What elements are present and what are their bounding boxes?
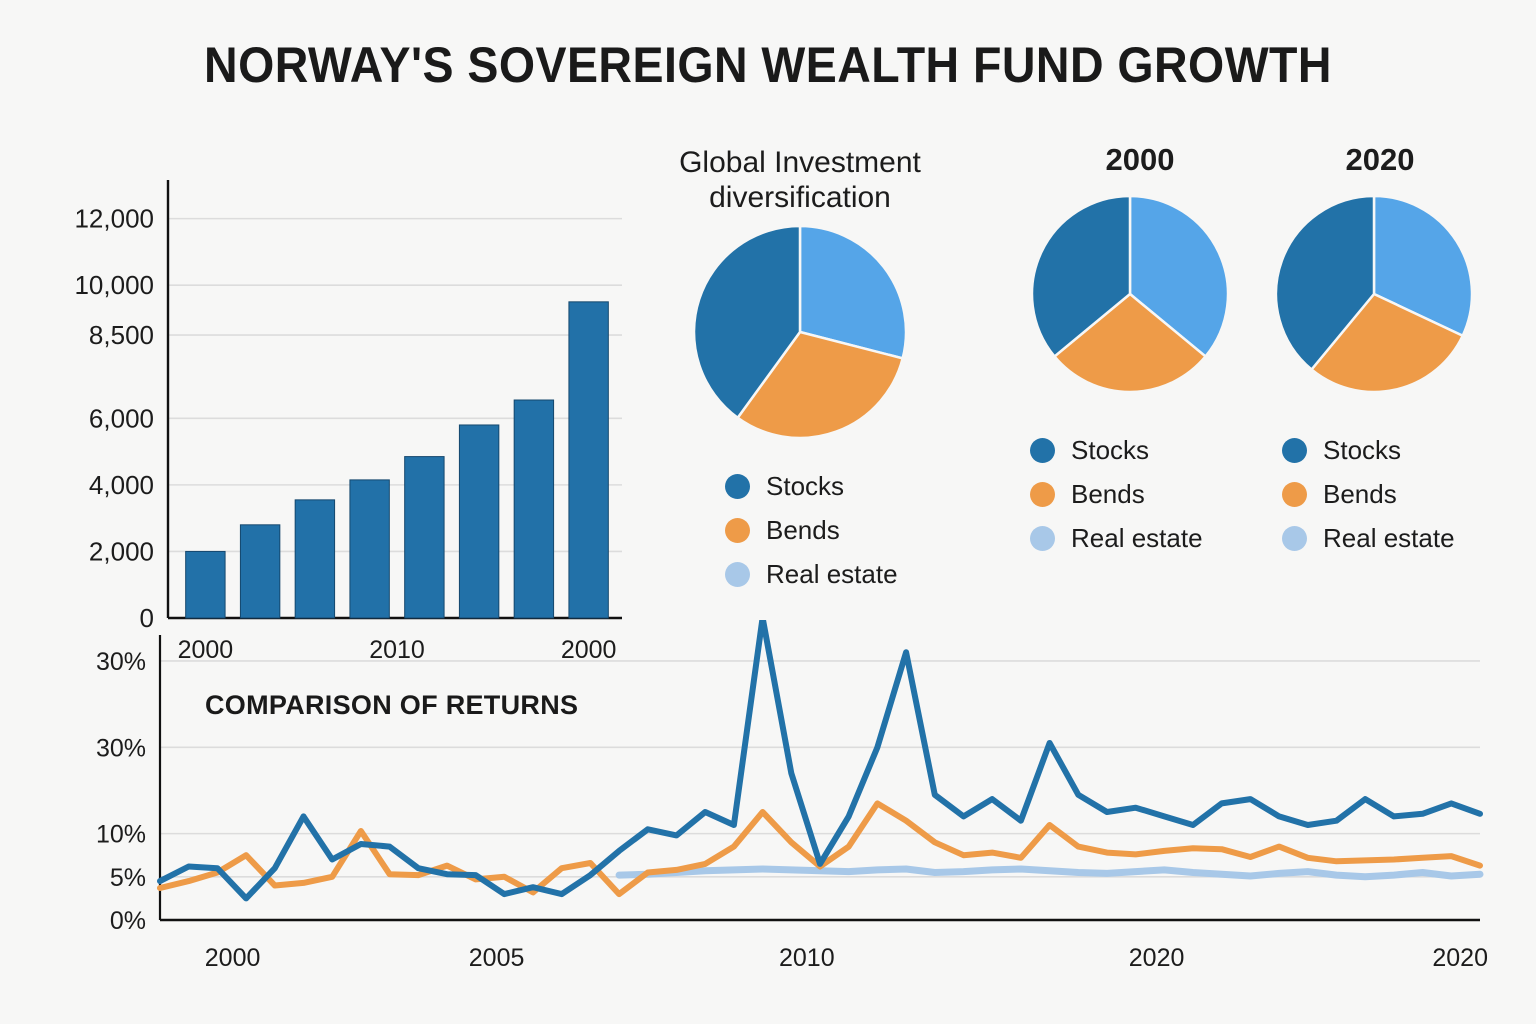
legend-item-real-estate[interactable]: Real estate — [725, 560, 898, 588]
bar[interactable] — [514, 400, 553, 618]
legend-dot-real-estate-icon — [1282, 526, 1307, 551]
pie-2020-panel — [1272, 192, 1476, 396]
legend-label-bends: Bends — [1323, 479, 1397, 510]
pie-title-2020: 2020 — [1255, 142, 1505, 178]
legend-dot-real-estate-icon — [725, 562, 750, 587]
legend-item-real-estate[interactable]: Real estate — [1282, 524, 1455, 552]
bar-chart: 02,0004,0006,0008,50010,00012,0002000201… — [40, 170, 640, 670]
line-series-stocks — [160, 620, 1480, 898]
legend-item-stocks[interactable]: Stocks — [1030, 436, 1203, 464]
line-y-tick-label: 0% — [110, 907, 146, 935]
line-chart-panel: 0%5%10%30%30%20002005201020202020 — [60, 620, 1500, 1000]
line-x-tick-label: 2020 — [1129, 944, 1185, 972]
legend-label-stocks: Stocks — [766, 471, 844, 502]
page-title: NORWAY'S SOVEREIGN WEALTH FUND GROWTH — [54, 36, 1482, 94]
line-y-tick-label: 5% — [110, 864, 146, 892]
bar[interactable] — [186, 551, 225, 618]
line-x-tick-label: 2010 — [779, 944, 835, 972]
legend-label-bends: Bends — [1071, 479, 1145, 510]
infographic-root: NORWAY'S SOVEREIGN WEALTH FUND GROWTH 02… — [0, 0, 1536, 1024]
legend-label-real-estate: Real estate — [1323, 523, 1455, 554]
legend-item-real-estate[interactable]: Real estate — [1030, 524, 1203, 552]
bar[interactable] — [240, 525, 279, 618]
bar[interactable] — [350, 480, 389, 618]
bar[interactable] — [569, 302, 608, 618]
legend-item-bends[interactable]: Bends — [1030, 480, 1203, 508]
legend-global: Stocks Bends Real estate — [725, 472, 898, 604]
line-x-tick-label: 2020 — [1432, 944, 1488, 972]
bar[interactable] — [405, 457, 444, 618]
legend-label-stocks: Stocks — [1071, 435, 1149, 466]
line-chart: 0%5%10%30%30%20002005201020202020 — [60, 620, 1500, 1000]
bar-y-tick-label: 6,000 — [89, 403, 154, 433]
legend-label-bends: Bends — [766, 515, 840, 546]
pie-title-global-line1: Global Investment — [650, 146, 950, 181]
legend-label-real-estate: Real estate — [766, 559, 898, 590]
legend-item-bends[interactable]: Bends — [725, 516, 898, 544]
pie-title-global: Global Investment diversification — [650, 146, 950, 216]
bar-y-tick-label: 2,000 — [89, 536, 154, 566]
legend-dot-stocks-icon — [1030, 438, 1055, 463]
legend-dot-stocks-icon — [1282, 438, 1307, 463]
legend-item-bends[interactable]: Bends — [1282, 480, 1455, 508]
legend-label-real-estate: Real estate — [1071, 523, 1203, 554]
legend-item-stocks[interactable]: Stocks — [725, 472, 898, 500]
bar-y-tick-label: 8,500 — [89, 320, 154, 350]
pie-title-2020-line1: 2020 — [1255, 142, 1505, 178]
line-series-real-estate — [619, 869, 1480, 877]
bar-chart-panel: 02,0004,0006,0008,50010,00012,0002000201… — [40, 170, 640, 670]
pie-chart-global[interactable] — [690, 222, 910, 442]
legend-2000: Stocks Bends Real estate — [1030, 436, 1203, 568]
line-y-tick-label: 30% — [96, 648, 146, 676]
legend-dot-bends-icon — [1282, 482, 1307, 507]
legend-dot-bends-icon — [1030, 482, 1055, 507]
bar-y-tick-label: 4,000 — [89, 470, 154, 500]
legend-label-stocks: Stocks — [1323, 435, 1401, 466]
legend-2020: Stocks Bends Real estate — [1282, 436, 1455, 568]
legend-dot-bends-icon — [725, 518, 750, 543]
bar-y-tick-label: 10,000 — [74, 270, 154, 300]
bar[interactable] — [295, 500, 334, 618]
line-x-tick-label: 2000 — [205, 944, 261, 972]
pie-title-2000: 2000 — [1015, 142, 1265, 178]
line-y-tick-label: 10% — [96, 821, 146, 849]
legend-item-stocks[interactable]: Stocks — [1282, 436, 1455, 464]
bar[interactable] — [459, 425, 498, 618]
line-x-tick-label: 2005 — [469, 944, 525, 972]
pie-title-2000-line1: 2000 — [1015, 142, 1265, 178]
bar-y-tick-label: 12,000 — [74, 204, 154, 234]
pie-title-global-line2: diversification — [650, 181, 950, 216]
line-y-tick-label: 30% — [96, 734, 146, 762]
pie-2000-panel — [1028, 192, 1232, 396]
pie-global-panel — [690, 222, 910, 442]
pie-chart-2000[interactable] — [1028, 192, 1232, 396]
pie-chart-2020[interactable] — [1272, 192, 1476, 396]
legend-dot-real-estate-icon — [1030, 526, 1055, 551]
legend-dot-stocks-icon — [725, 474, 750, 499]
